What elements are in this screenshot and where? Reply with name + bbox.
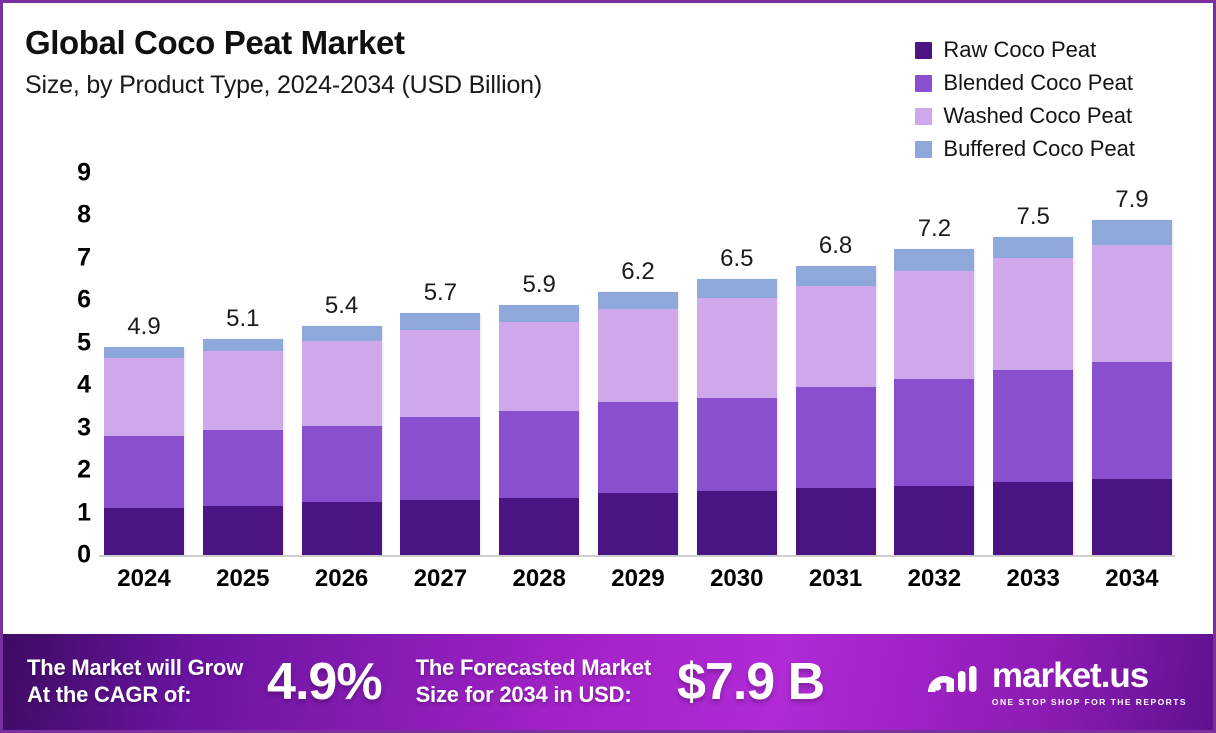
x-axis: 2024202520262027202820292030203120322033… — [103, 567, 1173, 591]
bar-segment[interactable] — [598, 292, 678, 309]
bar-segment[interactable] — [203, 351, 283, 430]
bar-value-label: 6.8 — [819, 234, 852, 258]
legend-swatch-icon — [915, 141, 932, 158]
bar-segment[interactable] — [400, 417, 480, 500]
bar-stack[interactable] — [1092, 220, 1172, 555]
bar-stack[interactable] — [993, 237, 1073, 555]
bar-series-container: 4.95.15.45.75.96.26.56.87.27.57.9 — [103, 173, 1173, 555]
x-axis-tick-label: 2025 — [202, 567, 284, 591]
cagr-label-line1: The Market will Grow — [27, 655, 243, 680]
bar-stack[interactable] — [697, 279, 777, 555]
bar-segment[interactable] — [894, 486, 974, 555]
y-axis-tick-label: 5 — [77, 330, 91, 355]
legend-item[interactable]: Raw Coco Peat — [915, 37, 1135, 63]
bar-segment[interactable] — [104, 347, 184, 358]
y-axis: 9876543210 — [51, 173, 91, 555]
bar-segment[interactable] — [203, 430, 283, 506]
x-axis-tick-label: 2031 — [795, 567, 877, 591]
bar-segment[interactable] — [993, 237, 1073, 258]
bar-segment[interactable] — [697, 398, 777, 491]
x-axis-tick-label: 2034 — [1091, 567, 1173, 591]
bar-value-label: 5.9 — [523, 273, 556, 297]
bar-segment[interactable] — [1092, 245, 1172, 362]
chart-header: Global Coco Peat Market Size, by Product… — [25, 25, 725, 100]
bar-segment[interactable] — [598, 402, 678, 493]
bar-segment[interactable] — [796, 266, 876, 285]
legend-swatch-icon — [915, 42, 932, 59]
bar-segment[interactable] — [400, 313, 480, 330]
logo-tagline: ONE STOP SHOP FOR THE REPORTS — [992, 697, 1187, 707]
x-axis-tick-label: 2030 — [696, 567, 778, 591]
bar-segment[interactable] — [400, 330, 480, 417]
bar-segment[interactable] — [104, 436, 184, 508]
bar-group[interactable]: 7.9 — [1091, 173, 1173, 555]
bar-stack[interactable] — [400, 313, 480, 555]
bar-segment[interactable] — [203, 506, 283, 555]
legend-item-label: Blended Coco Peat — [943, 72, 1133, 94]
forecast-value: $7.9 B — [677, 656, 824, 708]
bar-stack[interactable] — [499, 305, 579, 555]
bar-segment[interactable] — [697, 491, 777, 555]
bar-value-label: 7.2 — [918, 217, 951, 241]
x-axis-tick-label: 2029 — [597, 567, 679, 591]
bar-segment[interactable] — [104, 358, 184, 437]
bar-value-label: 6.5 — [720, 247, 753, 271]
y-axis-tick-label: 4 — [77, 373, 91, 398]
page-title: Global Coco Peat Market — [25, 25, 725, 61]
bar-segment[interactable] — [894, 271, 974, 379]
bar-segment[interactable] — [1092, 479, 1172, 555]
bar-segment[interactable] — [993, 482, 1073, 555]
bar-stack[interactable] — [104, 347, 184, 555]
legend-item-label: Raw Coco Peat — [943, 39, 1096, 61]
bar-segment[interactable] — [203, 339, 283, 352]
bar-group[interactable]: 5.4 — [301, 173, 383, 555]
legend-item[interactable]: Buffered Coco Peat — [915, 136, 1135, 162]
bar-group[interactable]: 5.1 — [202, 173, 284, 555]
bar-segment[interactable] — [894, 249, 974, 270]
bar-segment[interactable] — [993, 258, 1073, 370]
legend-item[interactable]: Blended Coco Peat — [915, 70, 1135, 96]
bar-segment[interactable] — [796, 387, 876, 488]
bar-segment[interactable] — [1092, 220, 1172, 245]
logo-wordmark: market.us — [992, 658, 1187, 693]
bar-group[interactable]: 6.2 — [597, 173, 679, 555]
y-axis-tick-label: 0 — [77, 543, 91, 568]
bar-segment[interactable] — [697, 279, 777, 298]
bar-segment[interactable] — [796, 488, 876, 555]
bar-group[interactable]: 6.5 — [696, 173, 778, 555]
bar-value-label: 5.1 — [226, 307, 259, 331]
legend-swatch-icon — [915, 108, 932, 125]
footer-banner: The Market will Grow At the CAGR of: 4.9… — [3, 634, 1213, 730]
bar-stack[interactable] — [598, 292, 678, 555]
y-axis-tick-label: 2 — [77, 458, 91, 483]
chart-legend: Raw Coco PeatBlended Coco PeatWashed Coc… — [915, 37, 1135, 162]
bar-group[interactable]: 7.2 — [893, 173, 975, 555]
legend-item[interactable]: Washed Coco Peat — [915, 103, 1135, 129]
bar-segment[interactable] — [302, 341, 382, 426]
y-axis-tick-label: 8 — [77, 203, 91, 228]
x-axis-tick-label: 2027 — [399, 567, 481, 591]
bar-segment[interactable] — [796, 286, 876, 388]
bar-segment[interactable] — [499, 322, 579, 411]
bar-stack[interactable] — [894, 249, 974, 555]
x-axis-tick-label: 2033 — [992, 567, 1074, 591]
market-us-logo-mark-icon — [924, 660, 980, 705]
logo-text: market.us ONE STOP SHOP FOR THE REPORTS — [992, 658, 1187, 707]
cagr-label: The Market will Grow At the CAGR of: — [27, 655, 243, 709]
market-us-logo[interactable]: market.us ONE STOP SHOP FOR THE REPORTS — [924, 658, 1187, 707]
bar-value-label: 5.7 — [424, 281, 457, 305]
x-axis-line — [99, 555, 1175, 557]
bar-group[interactable]: 6.8 — [795, 173, 877, 555]
bar-group[interactable]: 7.5 — [992, 173, 1074, 555]
cagr-value: 4.9% — [267, 656, 382, 708]
bar-segment[interactable] — [598, 493, 678, 555]
legend-item-label: Buffered Coco Peat — [943, 138, 1135, 160]
bar-stack[interactable] — [203, 339, 283, 555]
bar-value-label: 4.9 — [127, 315, 160, 339]
bar-value-label: 6.2 — [621, 260, 654, 284]
bar-segment[interactable] — [499, 411, 579, 498]
bar-segment[interactable] — [400, 500, 480, 555]
x-axis-tick-label: 2028 — [498, 567, 580, 591]
y-axis-tick-label: 7 — [77, 245, 91, 270]
legend-item-label: Washed Coco Peat — [943, 105, 1132, 127]
bar-segment[interactable] — [598, 309, 678, 402]
bar-stack[interactable] — [302, 326, 382, 555]
bar-value-label: 5.4 — [325, 294, 358, 318]
bar-segment[interactable] — [993, 370, 1073, 482]
bar-segment[interactable] — [697, 298, 777, 398]
cagr-label-line2: At the CAGR of: — [27, 682, 243, 709]
y-axis-tick-label: 9 — [77, 161, 91, 186]
forecast-label: The Forecasted Market Size for 2034 in U… — [416, 655, 651, 709]
forecast-label-line2: Size for 2034 in USD: — [416, 682, 651, 709]
legend-swatch-icon — [915, 75, 932, 92]
bar-segment[interactable] — [894, 379, 974, 486]
y-axis-tick-label: 3 — [77, 415, 91, 440]
bar-group[interactable]: 4.9 — [103, 173, 185, 555]
bar-stack[interactable] — [796, 266, 876, 555]
page-subtitle: Size, by Product Type, 2024-2034 (USD Bi… — [25, 71, 725, 100]
plot-area: 9876543210 4.95.15.45.75.96.26.56.87.27.… — [3, 173, 1213, 613]
forecast-label-line1: The Forecasted Market — [416, 655, 651, 680]
bar-group[interactable]: 5.7 — [399, 173, 481, 555]
bar-value-label: 7.9 — [1115, 188, 1148, 212]
y-axis-tick-label: 6 — [77, 288, 91, 313]
bar-segment[interactable] — [302, 326, 382, 341]
bar-segment[interactable] — [302, 426, 382, 502]
bar-segment[interactable] — [104, 508, 184, 555]
x-axis-tick-label: 2026 — [301, 567, 383, 591]
bar-segment[interactable] — [1092, 362, 1172, 479]
bar-segment[interactable] — [499, 498, 579, 555]
bar-segment[interactable] — [302, 502, 382, 555]
bar-value-label: 7.5 — [1016, 205, 1049, 229]
bar-segment[interactable] — [499, 305, 579, 322]
bar-group[interactable]: 5.9 — [498, 173, 580, 555]
y-axis-tick-label: 1 — [77, 500, 91, 525]
x-axis-tick-label: 2032 — [893, 567, 975, 591]
infographic-root: Global Coco Peat Market Size, by Product… — [0, 0, 1216, 733]
x-axis-tick-label: 2024 — [103, 567, 185, 591]
